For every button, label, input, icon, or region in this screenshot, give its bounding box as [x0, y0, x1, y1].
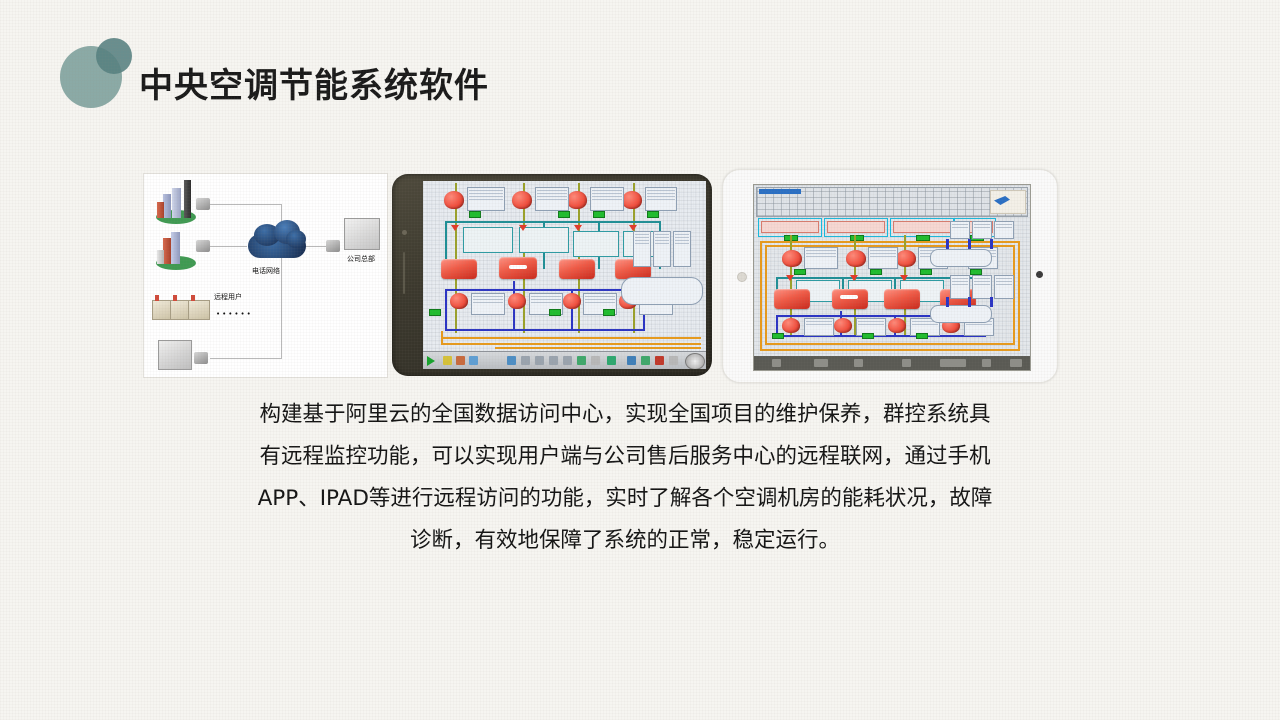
valve-icon	[786, 275, 794, 281]
building-tower	[184, 180, 191, 218]
keyboard-icon[interactable]	[940, 359, 966, 367]
link-line	[281, 254, 282, 359]
tool-icon[interactable]	[507, 356, 516, 365]
link-line	[210, 204, 282, 205]
cooling-tower-icon	[827, 221, 885, 233]
pump-icon	[512, 191, 532, 209]
tool-icon[interactable]	[535, 356, 544, 365]
link-line	[210, 246, 247, 247]
tool-icon[interactable]	[669, 356, 678, 365]
tool-icon[interactable]	[549, 356, 558, 365]
pipe-return-riser	[765, 245, 767, 345]
pump-icon	[444, 191, 464, 209]
building-tower	[163, 194, 171, 218]
control-box	[994, 221, 1014, 239]
data-box	[645, 187, 677, 211]
telephone-network-cloud	[248, 220, 306, 262]
pipe-return-riser	[441, 331, 443, 343]
building-tower	[163, 238, 171, 264]
pipe-chilled-header	[445, 289, 645, 291]
speaker-slit	[403, 252, 405, 294]
cooling-tower-icon	[761, 221, 819, 233]
chimney	[155, 295, 159, 301]
flow-arrow-icon	[946, 239, 949, 249]
pipe-chilled-riser	[445, 289, 447, 331]
control-box	[633, 231, 651, 267]
modem-icon	[196, 240, 210, 252]
wrench-icon[interactable]	[902, 359, 911, 367]
data-box	[471, 293, 505, 315]
control-box	[950, 275, 970, 299]
company-logo	[990, 190, 1026, 214]
menu-icon[interactable]	[1010, 359, 1022, 367]
pipe-chilled-return	[445, 329, 645, 331]
home-button[interactable]	[1036, 271, 1043, 278]
status-indicator	[916, 333, 928, 339]
chiller-highlight	[509, 265, 527, 269]
tool-icon[interactable]	[641, 356, 650, 365]
pipe-return-main	[760, 349, 1020, 351]
control-box	[673, 231, 691, 267]
status-indicator	[593, 211, 605, 218]
data-box	[804, 247, 838, 269]
status-indicator	[772, 333, 784, 339]
modem-icon	[326, 240, 340, 252]
headquarters-server-icon	[344, 218, 380, 250]
chiller-icon	[884, 289, 920, 309]
tank-icon	[930, 249, 992, 267]
status-indicator	[920, 269, 932, 275]
settings-icon[interactable]	[854, 359, 863, 367]
pipe-return-riser	[760, 241, 762, 351]
valve-icon	[850, 275, 858, 281]
gauge-icon[interactable]	[685, 353, 705, 369]
page-title: 中央空调节能系统软件	[139, 58, 489, 107]
pipe-return-main	[441, 337, 701, 339]
chiller-highlight	[840, 295, 858, 299]
valve-icon	[574, 225, 582, 231]
status-indicator	[469, 211, 481, 218]
close-icon[interactable]	[772, 359, 781, 367]
slide-header: 中央空调节能系统软件	[0, 0, 1280, 140]
pump-icon	[782, 250, 802, 267]
pipe-return-main	[441, 343, 701, 345]
pipe-return-main	[495, 347, 701, 349]
cooling-tower-icon	[893, 221, 951, 233]
caption-line: 构建基于阿里云的全国数据访问中心，实现全国项目的维护保养，群控系统具	[206, 394, 1044, 436]
pump-icon	[622, 191, 642, 209]
cloud-label: 电话网络	[252, 266, 280, 276]
chimney	[173, 295, 177, 301]
status-indicator	[429, 309, 441, 316]
chiller-icon	[774, 289, 810, 309]
scada-diagram	[423, 181, 706, 369]
pump-icon	[567, 191, 587, 209]
android-device-photo	[392, 174, 712, 376]
valve-icon	[519, 225, 527, 231]
pump-icon	[508, 293, 526, 309]
flow-arrow-icon	[946, 297, 949, 307]
data-box	[573, 231, 619, 257]
tool-icon[interactable]	[627, 356, 636, 365]
control-box	[994, 275, 1014, 299]
caption-line: APP、IPAD等进行远程访问的功能，实时了解各个空调机房的能耗状况，故障	[206, 478, 1044, 520]
tool-icon[interactable]	[591, 356, 600, 365]
link-line	[210, 358, 282, 359]
modem-icon	[196, 198, 210, 210]
play-icon[interactable]	[427, 356, 435, 366]
chiller-icon	[832, 289, 868, 309]
ipad-device-photo	[722, 169, 1058, 383]
network-topology-image: 电话网络 公司总部 远程用户 ••••••	[143, 173, 388, 378]
flow-arrow-icon	[990, 239, 993, 249]
logo-decoration-circles	[60, 38, 134, 110]
tank-icon	[930, 305, 992, 323]
data-box	[590, 187, 624, 211]
device-dark-screen	[423, 181, 706, 369]
pump-icon	[782, 318, 800, 333]
tool-icon[interactable]	[655, 356, 664, 365]
status-indicator	[647, 211, 659, 218]
house-icon	[188, 300, 210, 320]
status-indicator	[862, 333, 874, 339]
building-tower	[172, 188, 181, 218]
flow-arrow-icon	[968, 297, 971, 307]
tool-icon[interactable]	[443, 356, 452, 365]
tool-icon[interactable]	[577, 356, 586, 365]
status-indicator	[870, 269, 882, 275]
tank-icon	[621, 277, 703, 305]
data-box	[535, 187, 569, 211]
camera-icon	[402, 230, 407, 235]
modem-icon	[194, 352, 208, 364]
tool-icon[interactable]	[469, 356, 478, 365]
logo-small-circle	[96, 38, 132, 74]
pump-icon	[888, 318, 906, 333]
pipe-return-main	[760, 241, 1020, 243]
status-indicator	[558, 211, 570, 218]
status-indicator	[549, 309, 561, 316]
headquarters-label: 公司总部	[347, 254, 375, 264]
valve-icon	[900, 275, 908, 281]
media-strip: 电话网络 公司总部 远程用户 ••••••	[0, 160, 1280, 380]
status-indicator	[794, 269, 806, 275]
gear-icon[interactable]	[982, 359, 991, 367]
scada-logo-text	[759, 189, 801, 194]
tool-icon[interactable]	[563, 356, 572, 365]
data-box	[467, 187, 505, 211]
data-box	[804, 318, 834, 336]
device-white-screen	[753, 184, 1031, 371]
camera-icon	[737, 272, 747, 282]
scada-diagram	[754, 185, 1030, 370]
flow-arrow-icon	[968, 239, 971, 249]
building-tower	[171, 232, 180, 264]
link-line	[304, 246, 328, 247]
server-icon	[158, 340, 192, 370]
pipe-return-main	[765, 343, 1015, 345]
tool-icon[interactable]	[521, 356, 530, 365]
valve-icon	[451, 225, 459, 231]
control-box	[972, 275, 992, 299]
data-box	[463, 227, 513, 253]
flow-arrow-icon	[990, 297, 993, 307]
chiller-icon	[441, 259, 477, 279]
building-tower	[157, 202, 164, 218]
tool-icon[interactable]	[814, 359, 828, 367]
control-box	[950, 221, 970, 239]
building-tower	[157, 250, 164, 264]
chiller-icon	[559, 259, 595, 279]
scada-toolbar[interactable]	[423, 351, 706, 369]
slide-caption: 构建基于阿里云的全国数据访问中心，实现全国项目的维护保养，群控系统具 有远程监控…	[206, 394, 1044, 562]
chimney	[191, 295, 195, 301]
ellipsis-label: ••••••	[216, 310, 253, 318]
pump-icon	[834, 318, 852, 333]
tool-icon[interactable]	[607, 356, 616, 365]
caption-line: 有远程监控功能，可以实现用户端与公司售后服务中心的远程联网，通过手机	[206, 436, 1044, 478]
ipad-bottom-toolbar[interactable]	[754, 356, 1030, 370]
data-box	[868, 247, 898, 269]
control-box	[653, 231, 671, 267]
tool-icon[interactable]	[456, 356, 465, 365]
pump-icon	[846, 250, 866, 267]
caption-line: 诊断，有效地保障了系统的正常，稳定运行。	[206, 520, 1044, 562]
status-indicator	[603, 309, 615, 316]
pump-icon	[896, 250, 916, 267]
pump-icon	[450, 293, 468, 309]
pump-icon	[563, 293, 581, 309]
pipe-cooling-header	[445, 221, 660, 223]
pipe-return-riser	[1018, 241, 1020, 351]
control-box	[972, 221, 992, 239]
remote-users-label: 远程用户	[214, 292, 242, 302]
